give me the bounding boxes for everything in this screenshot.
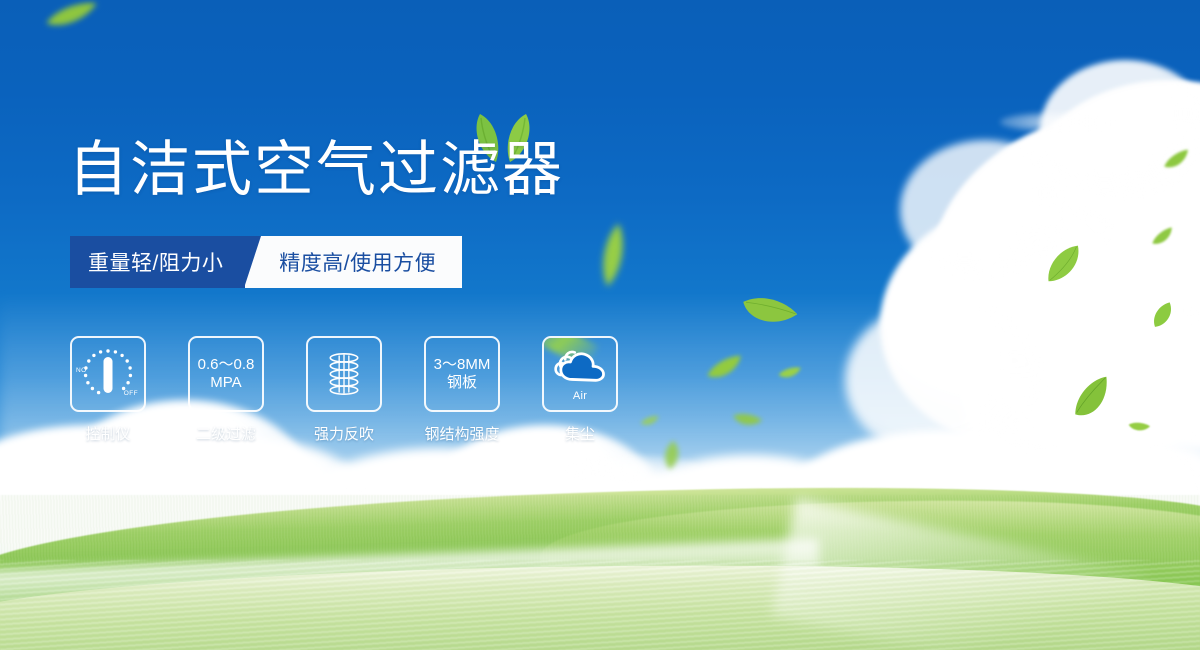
- page-title: 自洁式空气过滤器: [68, 140, 564, 200]
- feature-icon-box: NO OFF: [70, 336, 146, 412]
- feature-item-pressure[interactable]: 0.6～0.8 MPA 二级过滤: [188, 336, 264, 444]
- feature-icon-box: 3～8MM 钢板: [424, 336, 500, 412]
- feature-item-steel[interactable]: 3～8MM 钢板 钢结构强度: [424, 336, 500, 444]
- feature-label: 控制仪: [85, 423, 130, 444]
- gauge-dial-icon: NO OFF: [77, 343, 139, 405]
- feature-icon-box: Air: [542, 336, 618, 412]
- feature-item-dust[interactable]: Air 集尘: [542, 336, 618, 444]
- feature-label: 二级过滤: [196, 423, 256, 444]
- air-text-label: Air: [544, 390, 616, 402]
- steel-plate-icon: 3～8MM 钢板: [434, 356, 491, 391]
- cloud-air-icon: [553, 348, 607, 390]
- feature-label: 集尘: [565, 423, 595, 444]
- feature-icon-box: 0.6～0.8 MPA: [188, 336, 264, 412]
- pressure-value-icon: 0.6～0.8 MPA: [198, 356, 255, 391]
- steel-line-1: 3～8MM: [434, 356, 491, 374]
- cloud-thin-wisp-mid: [560, 455, 700, 481]
- gauge-on-label: NO: [76, 367, 87, 374]
- filter-coil-icon: [319, 349, 369, 399]
- pressure-line-1: 0.6～0.8: [198, 356, 255, 374]
- steel-line-2: 钢板: [434, 374, 491, 392]
- subtitle-right-text: 精度高/使用方便: [279, 247, 436, 277]
- feature-icon-box: [306, 336, 382, 412]
- feature-label: 强力反吹: [314, 423, 374, 444]
- feature-label: 钢结构强度: [424, 423, 499, 444]
- subtitle-left-text: 重量轻/阻力小: [88, 247, 223, 277]
- gauge-off-label: OFF: [124, 390, 138, 397]
- subtitle-bar: 重量轻/阻力小 精度高/使用方便: [70, 236, 462, 288]
- feature-item-backblow[interactable]: 强力反吹: [306, 336, 382, 444]
- grass-near-texture: [0, 560, 1200, 650]
- feature-item-control-gauge[interactable]: NO OFF 控制仪: [70, 336, 146, 444]
- pressure-line-2: MPA: [198, 374, 255, 392]
- cloud-thin-wisp-top: [1000, 112, 1120, 132]
- feature-list: NO OFF 控制仪 0.6～0.8 MPA 二级过滤: [70, 336, 618, 444]
- subtitle-segment-right: 精度高/使用方便: [245, 236, 462, 288]
- subtitle-segment-left: 重量轻/阻力小: [70, 236, 245, 288]
- hero-banner: 自洁式空气过滤器 重量轻/阻力小 精度高/使用方便: [0, 0, 1200, 650]
